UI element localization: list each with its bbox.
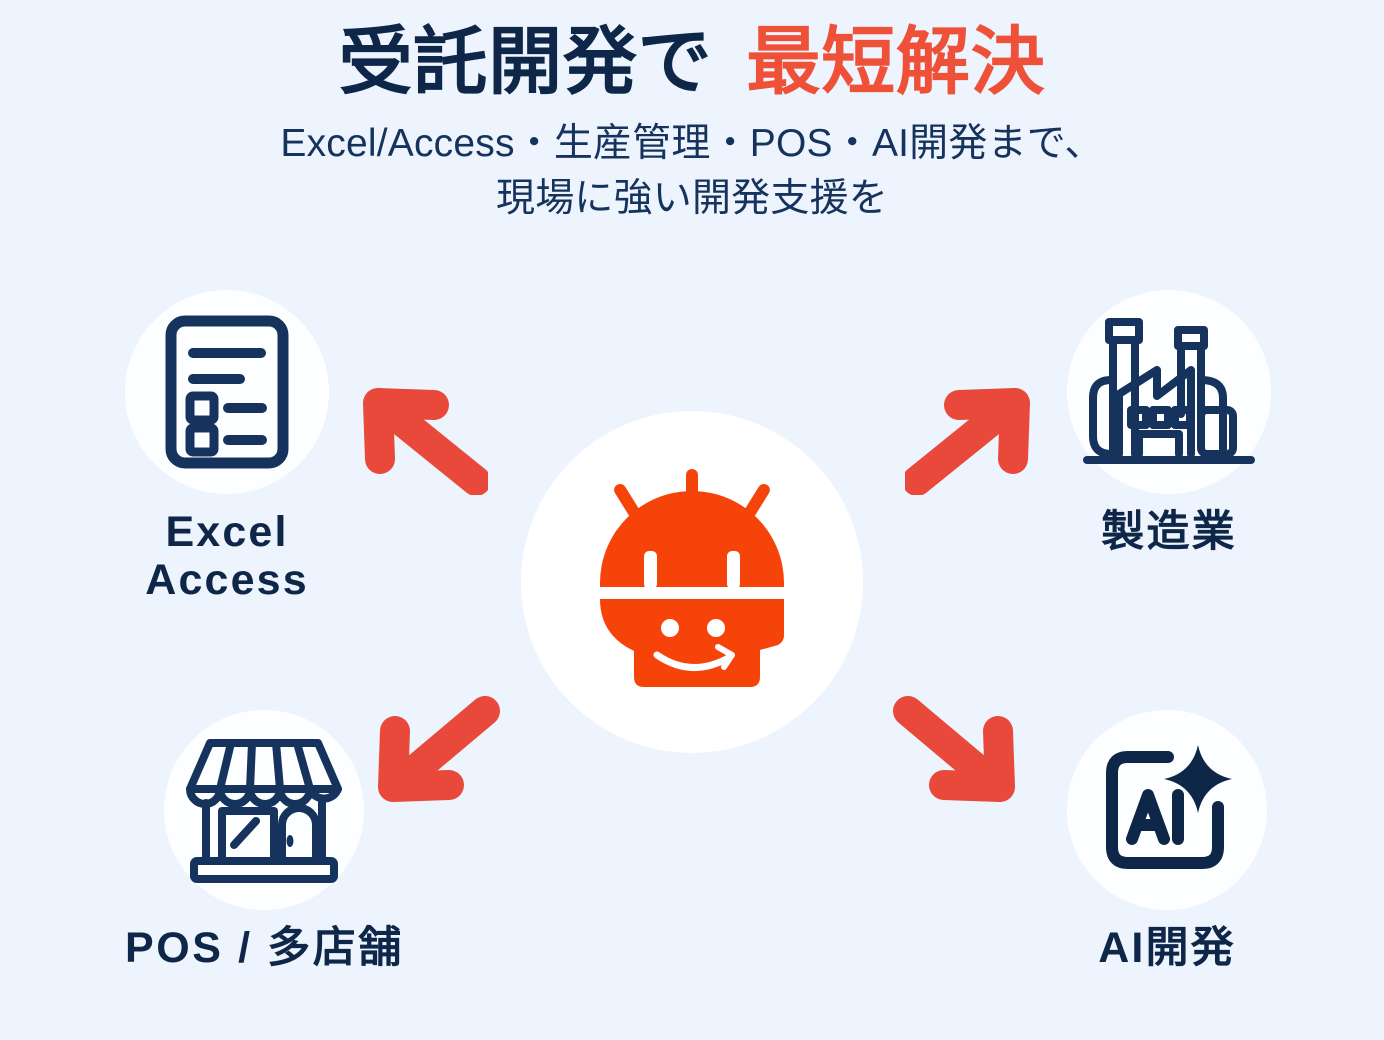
node-manufacturing-label-line1: 製造業 (1101, 508, 1236, 556)
node-excel-access-label-line2: Access (145, 556, 309, 604)
page-title: 受託開発で最短解決 (0, 0, 1384, 102)
node-manufacturing[interactable]: 製造業 (1067, 290, 1271, 556)
node-excel-access-disc (125, 290, 329, 494)
node-ai-development[interactable]: AI開発 (1067, 710, 1267, 972)
node-pos-multistore-label: POS / 多店舗 (125, 924, 404, 972)
node-manufacturing-disc (1067, 290, 1271, 494)
document-checklist-icon (162, 312, 292, 472)
robot-worker-mascot-icon (582, 465, 802, 700)
factory-icon (1083, 314, 1255, 470)
node-pos-multistore-label-line1: POS / 多店舗 (125, 924, 404, 972)
page-subtitle-line1: Excel/Access・生産管理・POS・AI開発まで、 (280, 122, 1103, 165)
node-ai-development-label-line1: AI開発 (1098, 924, 1236, 972)
node-manufacturing-label: 製造業 (1101, 508, 1236, 556)
node-ai-development-disc (1067, 710, 1267, 910)
page-title-accent: 最短解決 (746, 20, 1045, 103)
center-mascot-disc (521, 411, 863, 753)
page-title-main: 受託開発で (339, 20, 713, 103)
arrow-up-right-icon (905, 385, 1035, 500)
infographic-canvas: 受託開発で最短解決 Excel/Access・生産管理・POS・AI開発まで、 … (0, 0, 1384, 1040)
node-ai-development-label: AI開発 (1098, 924, 1236, 972)
header: 受託開発で最短解決 Excel/Access・生産管理・POS・AI開発まで、 … (0, 0, 1384, 227)
page-subtitle-line2: 現場に強い開発支援を (0, 171, 1384, 226)
arrow-up-left-icon (358, 385, 488, 500)
page-subtitle: Excel/Access・生産管理・POS・AI開発まで、 現場に強い開発支援を (0, 116, 1384, 227)
node-excel-access-label: Excel Access (145, 508, 309, 604)
node-pos-multistore[interactable]: POS / 多店舗 (125, 710, 404, 972)
arrow-down-right-icon (888, 695, 1018, 810)
node-excel-access[interactable]: Excel Access (125, 290, 329, 604)
ai-sparkle-icon (1090, 733, 1245, 888)
node-pos-multistore-disc (164, 710, 364, 910)
node-excel-access-label-line1: Excel (145, 508, 309, 556)
storefront-icon (184, 733, 344, 888)
